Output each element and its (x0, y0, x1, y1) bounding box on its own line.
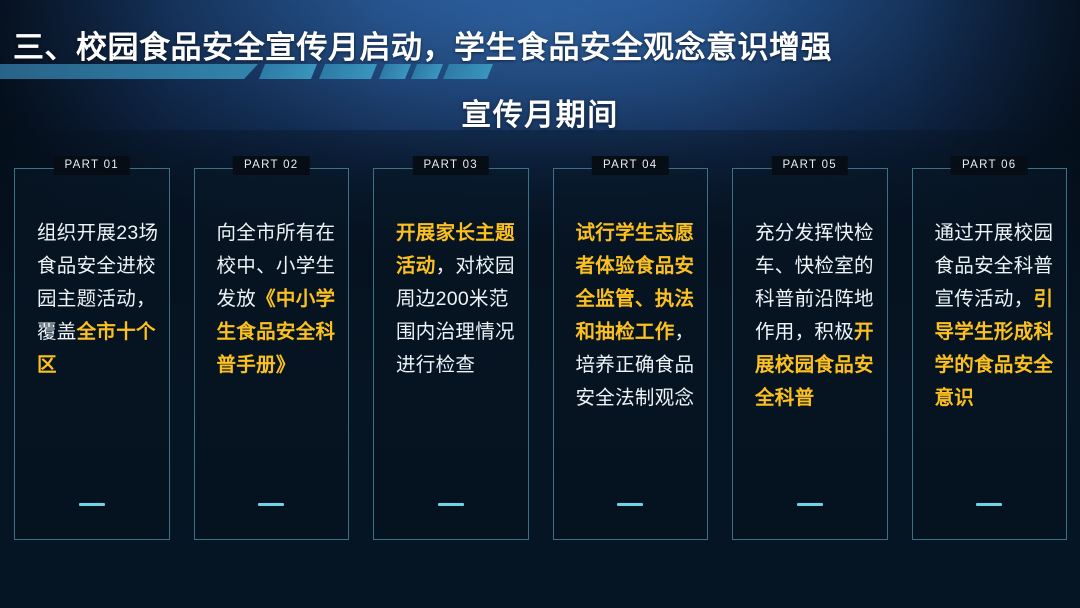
part-label: PART 06 (951, 156, 1028, 175)
card-divider-dash (258, 503, 284, 506)
page-subtitle: 宣传月期间 (0, 90, 1080, 134)
part-card[interactable]: PART 06通过开展校园食品安全科普宣传活动，引导学生形成科学的食品安全意识 (912, 168, 1068, 540)
part-card[interactable]: PART 03开展家长主题活动，对校园周边200米范围内治理情况进行检查 (373, 168, 529, 540)
slide-root: 三、校园食品安全宣传月启动，学生食品安全观念意识增强 宣传月期间 PART 01… (0, 0, 1080, 608)
part-card[interactable]: PART 05充分发挥快检车、快检室的科普前沿阵地作用，积极开展校园食品安全科普 (732, 168, 888, 540)
part-label: PART 02 (233, 156, 310, 175)
part-card-text: 向全市所有在校中、小学生发放《中小学生食品安全科普手册》 (217, 217, 339, 382)
part-label: PART 04 (592, 156, 669, 175)
part-label: PART 03 (413, 156, 490, 175)
part-label: PART 05 (772, 156, 849, 175)
card-divider-dash (617, 503, 643, 506)
part-card-text: 充分发挥快检车、快检室的科普前沿阵地作用，积极开展校园食品安全科普 (755, 217, 877, 415)
part-label: PART 01 (54, 156, 131, 175)
part-card-text: 开展家长主题活动，对校园周边200米范围内治理情况进行检查 (396, 217, 518, 382)
card-divider-dash (79, 503, 105, 506)
part-card-text: 通过开展校园食品安全科普宣传活动，引导学生形成科学的食品安全意识 (935, 217, 1057, 415)
card-divider-dash (976, 503, 1002, 506)
part-card-text: 试行学生志愿者体验食品安全监管、执法和抽检工作，培养正确食品安全法制观念 (576, 217, 698, 415)
page-title: 三、校园食品安全宣传月启动，学生食品安全观念意识增强 (13, 22, 832, 67)
cards-row: PART 01组织开展23场食品安全进校园主题活动，覆盖全市十个区PART 02… (14, 168, 1067, 540)
part-card-text: 组织开展23场食品安全进校园主题活动，覆盖全市十个区 (37, 217, 159, 382)
card-divider-dash (797, 503, 823, 506)
part-card[interactable]: PART 01组织开展23场食品安全进校园主题活动，覆盖全市十个区 (14, 168, 170, 540)
part-card[interactable]: PART 02向全市所有在校中、小学生发放《中小学生食品安全科普手册》 (194, 168, 350, 540)
card-divider-dash (438, 503, 464, 506)
part-card[interactable]: PART 04试行学生志愿者体验食品安全监管、执法和抽检工作，培养正确食品安全法… (553, 168, 709, 540)
